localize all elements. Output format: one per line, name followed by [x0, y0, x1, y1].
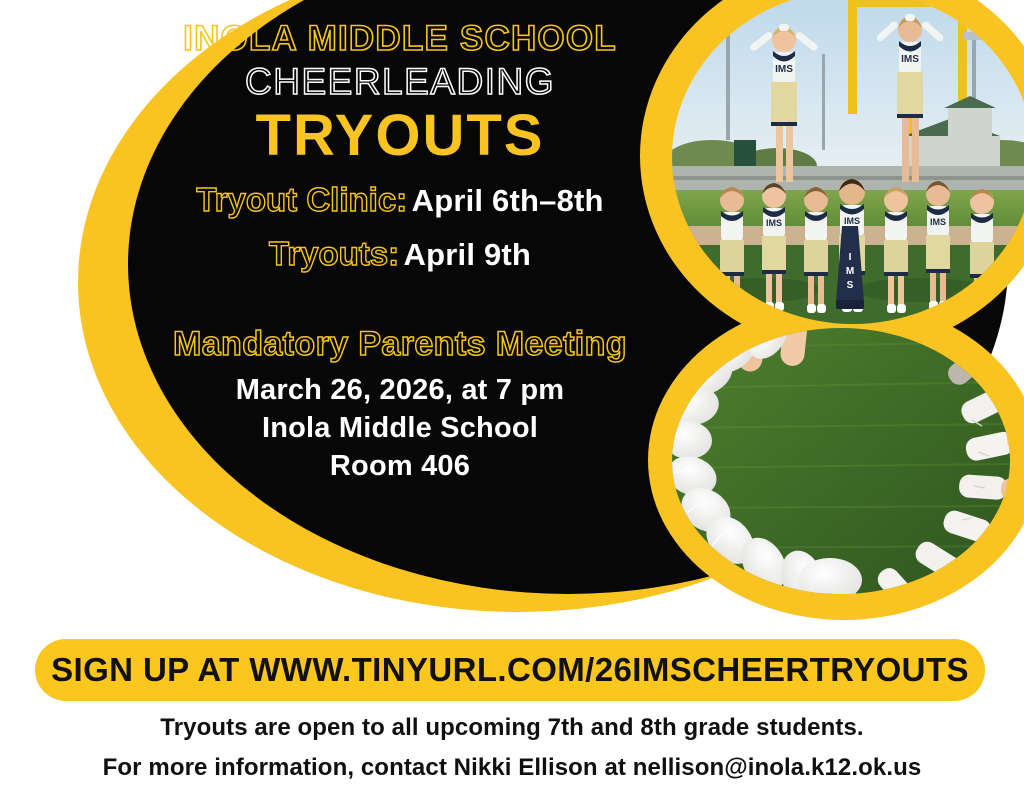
page-title-event: TRYOUTS: [150, 106, 650, 167]
signup-banner[interactable]: SIGN UP AT WWW.TINYURL.COM/26IMSCHEERTRY…: [35, 639, 985, 701]
page-title-school: INOLA MIDDLE SCHOOL: [150, 20, 650, 58]
footer-notes: Tryouts are open to all upcoming 7th and…: [0, 708, 1024, 787]
svg-text:IMS: IMS: [766, 218, 782, 228]
svg-text:IMS: IMS: [930, 217, 946, 227]
parents-meeting-location: Inola Middle School: [150, 410, 650, 448]
poster-canvas: IMS: [0, 0, 1024, 791]
svg-text:M: M: [846, 266, 854, 277]
footer-eligibility-line: Tryouts are open to all upcoming 7th and…: [0, 708, 1024, 748]
schedule-label-tryouts: Tryouts:: [269, 235, 399, 272]
svg-text:IMS: IMS: [901, 54, 919, 65]
parents-meeting-heading: Mandatory Parents Meeting: [150, 325, 650, 364]
signup-url-text: SIGN UP AT WWW.TINYURL.COM/26IMSCHEERTRY…: [51, 651, 969, 689]
page-title-sport: CHEERLEADING: [150, 62, 650, 103]
schedule-row-tryouts: Tryouts: April 9th: [150, 235, 650, 273]
svg-text:IMS: IMS: [775, 64, 793, 75]
footer-contact-line: For more information, contact Nikki Elli…: [0, 748, 1024, 788]
cheer-squad-pyramid-photo: IMS: [672, 0, 1024, 324]
schedule-row-tryout-clinic: Tryout Clinic: April 6th–8th: [150, 181, 650, 219]
pom-pom-heart-photo: [672, 328, 1010, 594]
schedule-value-tryouts: April 9th: [404, 237, 532, 272]
svg-text:I: I: [849, 252, 852, 263]
parents-meeting-datetime: March 26, 2026, at 7 pm: [150, 372, 650, 410]
schedule-label-tryout-clinic: Tryout Clinic:: [196, 181, 407, 218]
svg-text:IMS: IMS: [844, 216, 860, 226]
parents-meeting-room: Room 406: [150, 448, 650, 486]
schedule-value-tryout-clinic: April 6th–8th: [412, 183, 604, 218]
poster-text-column: INOLA MIDDLE SCHOOL CHEERLEADING TRYOUTS…: [150, 0, 650, 485]
svg-text:S: S: [847, 280, 854, 291]
